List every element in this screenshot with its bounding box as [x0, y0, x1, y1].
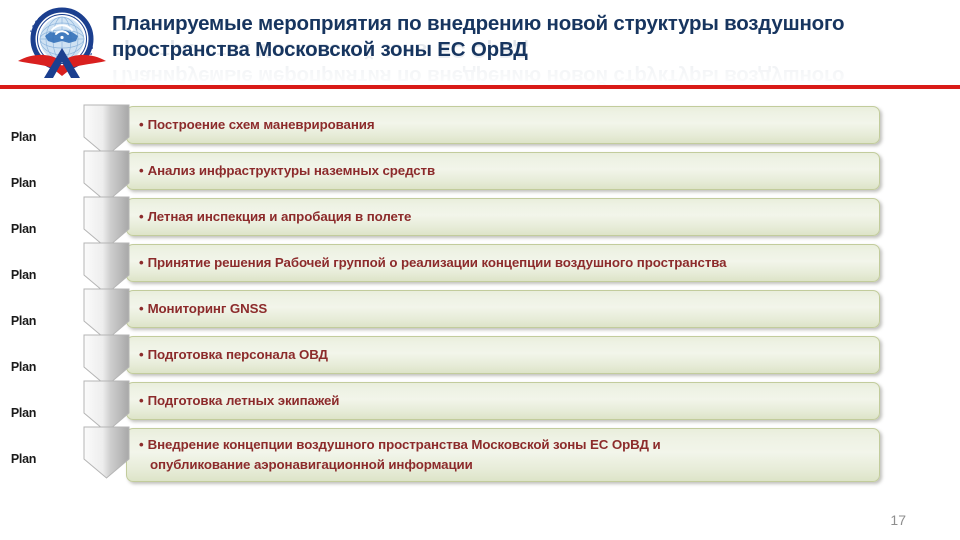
step-box[interactable]: •Мониторинг GNSS: [126, 290, 880, 328]
step-text: •Принятие решения Рабочей группой о реал…: [127, 253, 736, 273]
step-text: •Мониторинг GNSS: [127, 299, 277, 319]
step-label: Plan: [0, 222, 47, 236]
page-title-line1: Планируемые мероприятия по внедрению нов…: [112, 12, 844, 35]
step-text: •Внедрение концепции воздушного простран…: [127, 435, 671, 475]
page-title: Планируемые мероприятия по внедрению нов…: [112, 11, 942, 63]
step-text: •Построение схем маневрирования: [127, 115, 385, 135]
plan-chevron-icon: [83, 426, 130, 479]
step-label: Plan: [0, 130, 47, 144]
list-item[interactable]: Plan •Построение схем маневрирования: [0, 104, 960, 150]
step-label: Plan: [0, 268, 47, 282]
bullet-icon: •: [139, 301, 144, 316]
bullet-icon: •: [139, 255, 144, 270]
svg-text:Д: Д: [88, 52, 93, 56]
list-item[interactable]: Plan •Подготовка летных экипажей: [0, 380, 960, 426]
step-text: •Анализ инфраструктуры наземных средств: [127, 161, 445, 181]
bullet-icon: •: [139, 163, 144, 178]
step-label: Plan: [0, 406, 47, 420]
list-item[interactable]: Plan •Летная инспекция и апробация в пол…: [0, 196, 960, 242]
list-item[interactable]: Plan •Анализ инфраструктуры наземных сре…: [0, 150, 960, 196]
list-item[interactable]: Plan •Мониторинг GNSS: [0, 288, 960, 334]
bullet-icon: •: [139, 347, 144, 362]
step-box[interactable]: •Внедрение концепции воздушного простран…: [126, 428, 880, 482]
step-box[interactable]: •Принятие решения Рабочей группой о реал…: [126, 244, 880, 282]
list-item[interactable]: Plan •Принятие решения Рабочей группой о…: [0, 242, 960, 288]
goskorporaciya-orvd-logo: Г О С К О Р П О Р А Ц И Я п о О р: [14, 6, 110, 82]
step-label: Plan: [0, 452, 47, 466]
step-text: •Летная инспекция и апробация в полете: [127, 207, 421, 227]
process-steps-list: Plan •Построение схем маневрирования Pla…: [0, 104, 960, 490]
bullet-icon: •: [139, 393, 144, 408]
svg-text:В: В: [89, 46, 94, 49]
header-accent-rule: [0, 85, 960, 89]
step-label: Plan: [0, 360, 47, 374]
step-text: •Подготовка летных экипажей: [127, 391, 349, 411]
step-text: •Подготовка персонала ОВД: [127, 345, 338, 365]
slide: Г О С К О Р П О Р А Ц И Я п о О р: [0, 0, 960, 540]
list-item[interactable]: Plan •Подготовка персонала ОВД: [0, 334, 960, 380]
step-box[interactable]: •Летная инспекция и апробация в полете: [126, 198, 880, 236]
step-label: Plan: [0, 176, 47, 190]
step-box[interactable]: •Подготовка персонала ОВД: [126, 336, 880, 374]
step-box[interactable]: •Анализ инфраструктуры наземных средств: [126, 152, 880, 190]
step-label: Plan: [0, 314, 47, 328]
page-title-line2: пространства Московской зоны ЕС ОрВД: [112, 38, 528, 61]
bullet-icon: •: [139, 117, 144, 132]
step-box[interactable]: •Построение схем маневрирования: [126, 106, 880, 144]
step-box[interactable]: •Подготовка летных экипажей: [126, 382, 880, 420]
bullet-icon: •: [139, 209, 144, 224]
slide-header: Г О С К О Р П О Р А Ц И Я п о О р: [0, 0, 960, 86]
page-number: 17: [890, 512, 906, 528]
list-item[interactable]: Plan •Внедрение концепции воздушного про…: [0, 426, 960, 490]
bullet-icon: •: [139, 437, 144, 452]
